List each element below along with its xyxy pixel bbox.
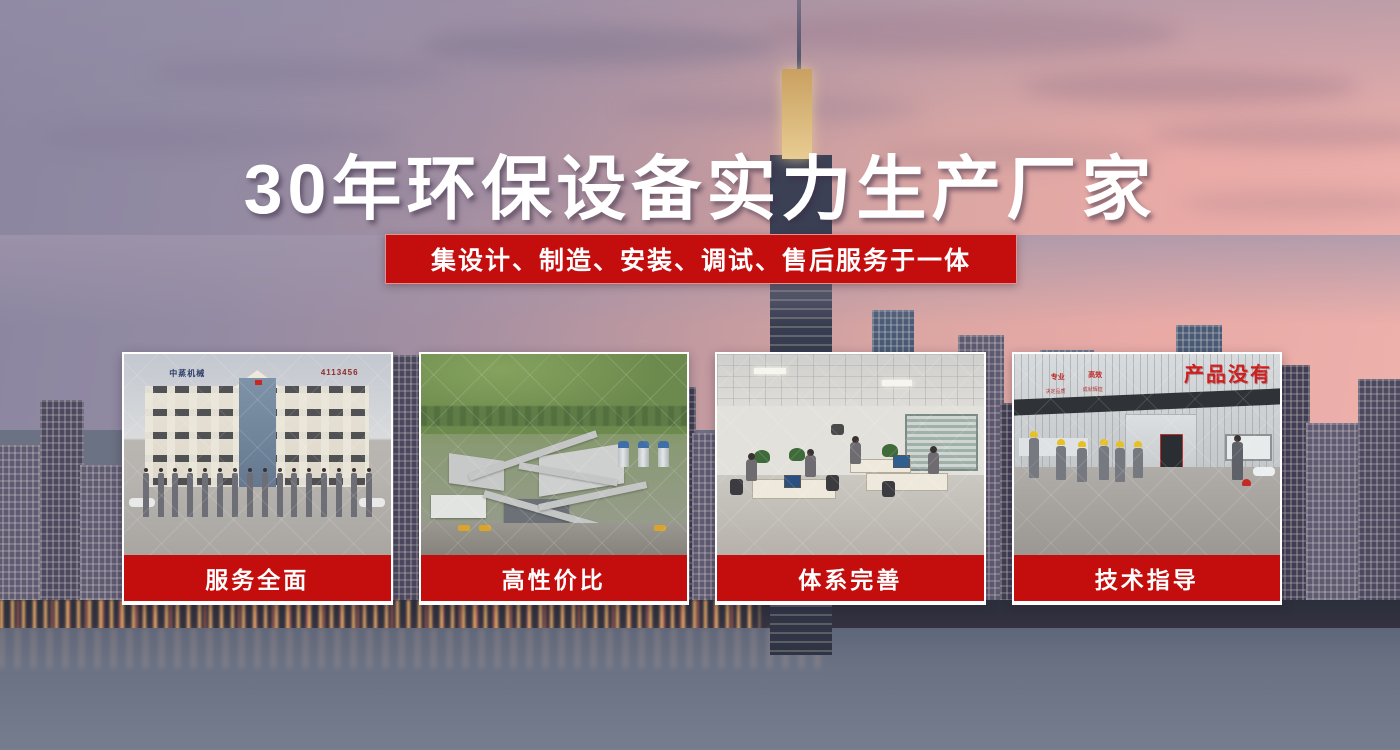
card-image-office-building: 中蒸机械 4113456 [124,354,391,555]
factory-slogan-1: 专业 [1051,372,1065,382]
staff-lineup [143,473,372,517]
feature-card-value[interactable]: 高性价比 [419,352,690,605]
card-caption-text: 服务全面 [205,561,309,595]
factory-slogan-sub-1: 决定品质 [1045,388,1065,395]
card-caption-text: 技术指导 [1095,561,1199,595]
silo-shape [658,441,669,467]
monitor-screen [893,455,910,468]
factory-slogan-main: 产品没有 [1184,358,1272,387]
ceiling-light [882,380,912,386]
river-reflection [0,628,820,668]
window-blinds [905,414,978,470]
worker-figure [1029,438,1039,478]
card-caption-bar: 高性价比 [421,555,688,601]
laptop-screen [784,475,801,488]
card-caption-bar: 服务全面 [124,555,391,601]
building-sign-text: 中蒸机械 [169,368,205,379]
cloud-shape [620,96,920,122]
feature-card-service[interactable]: 中蒸机械 4113456 服务全面 [122,352,393,605]
card-image-office-interior [717,354,984,555]
card-image-factory-workers: 产品没有 专业 高效 决定品质 成就辉煌 [1014,354,1281,555]
card-image-aerial-plant [421,354,688,555]
banner-stage: 30年环保设备实力生产厂家 集设计、制造、安装、调试、售后服务于一体 中蒸机械 … [0,0,1400,750]
worker-figure [1077,448,1087,482]
subtitle-text: 集设计、制造、安装、调试、售后服务于一体 [431,241,971,277]
silo-shape [638,441,649,467]
page-title: 30年环保设备实力生产厂家 [0,133,1400,234]
red-helmet-icon [1242,479,1251,486]
flag-icon [255,380,262,385]
card-caption-bar: 技术指导 [1014,555,1281,601]
worker-figure [1133,448,1143,478]
supervisor-figure [1232,442,1243,480]
cloud-shape [150,58,450,88]
feature-card-list: 中蒸机械 4113456 服务全面 [122,352,1282,605]
potted-plant [789,448,805,461]
silo-shape [618,441,629,467]
worker-figure [1115,448,1125,482]
cloud-shape [420,26,780,66]
cloud-shape [1020,70,1360,104]
card-caption-text: 高性价比 [502,561,606,595]
wall-logo-icon [821,416,855,442]
worker-figure [1099,446,1109,480]
building-phone-text: 4113456 [321,368,359,377]
feature-card-training[interactable]: 产品没有 专业 高效 决定品质 成就辉煌 [1012,352,1283,605]
worker-figure [1056,446,1066,480]
factory-slogan-2: 高效 [1088,370,1102,380]
subtitle-banner: 集设计、制造、安装、调试、售后服务于一体 [385,234,1017,284]
feature-card-system[interactable]: 体系完善 [715,352,986,605]
card-caption-text: 体系完善 [798,561,902,595]
factory-slogan-sub-2: 成就辉煌 [1083,386,1103,393]
card-caption-bar: 体系完善 [717,555,984,601]
ceiling-light [754,368,786,374]
tower-spire [797,0,801,71]
factory-door [1160,434,1183,468]
cloud-shape [760,10,1180,56]
